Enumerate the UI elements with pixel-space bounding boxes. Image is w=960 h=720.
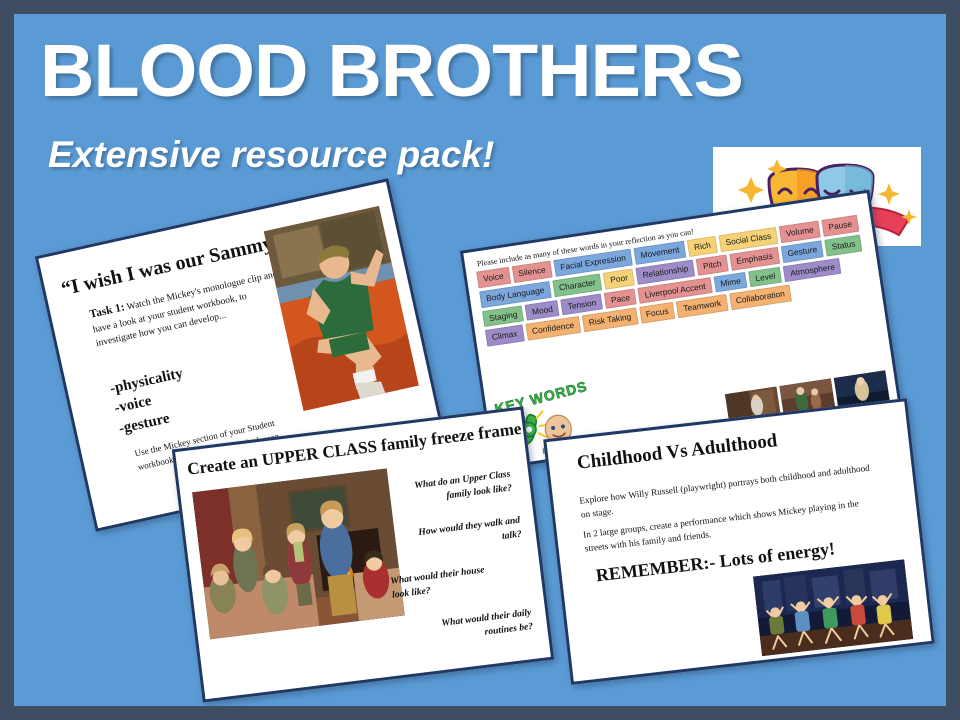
upper-class-family-photo [192, 468, 405, 639]
keyword-chip: Mood [525, 300, 560, 321]
family-photo-graphic [192, 468, 405, 639]
page-title: BLOOD BROTHERS [40, 28, 743, 113]
keyword-chip: Staging [482, 305, 524, 328]
upper-class-question-3: What would their house look like? [390, 561, 503, 602]
keyword-chip: Confidence [525, 316, 581, 341]
keyword-chip: Pace [604, 288, 637, 309]
upper-class-question-1: What do an Upper Class family look like? [400, 467, 513, 508]
slide-card-childhood[interactable]: Childhood Vs Adulthood Explore how Willy… [543, 398, 935, 685]
keyword-chip: Gesture [780, 240, 824, 263]
slide-canvas: BLOOD BROTHERS Extensive resource pack! [0, 0, 960, 720]
dancing-photo-graphic [753, 559, 913, 656]
upper-class-question-4: What would their daily routines be? [421, 606, 534, 647]
children-dancing-stage-photo [753, 559, 913, 656]
keyword-chip: Pause [821, 215, 859, 237]
slide-background: BLOOD BROTHERS Extensive resource pack! [14, 14, 946, 706]
keyword-chip: Climax [485, 325, 525, 347]
keyword-chip: Rich [687, 236, 718, 257]
keyword-chip: Focus [639, 302, 676, 324]
sammy-bullets: -physicality -voice -gesture [108, 363, 194, 438]
keyword-chip: Level [748, 266, 782, 287]
keyword-chip: Tension [560, 293, 603, 316]
upper-class-question-2: How would they walk and talk? [410, 514, 523, 555]
keyword-chip: Silence [511, 261, 553, 283]
keyword-chip: Poor [603, 268, 635, 289]
keyword-chip: Pitch [696, 254, 729, 275]
keyword-chip: Voice [476, 267, 511, 288]
mickey-photo-graphic [264, 206, 419, 411]
keyword-chip: Status [825, 234, 863, 256]
slide-card-upper-class[interactable]: Create an UPPER CLASS family freeze fram… [172, 406, 554, 702]
keyword-chip: Risk Taking [582, 308, 639, 333]
page-subtitle: Extensive resource pack! [48, 134, 494, 176]
childhood-title: Childhood Vs Adulthood [576, 430, 779, 475]
keyword-chip: Volume [779, 221, 821, 244]
keyword-chip: Teamwork [676, 294, 728, 318]
mickey-monologue-photo [264, 206, 419, 411]
keyword-chip: Mime [713, 271, 748, 292]
